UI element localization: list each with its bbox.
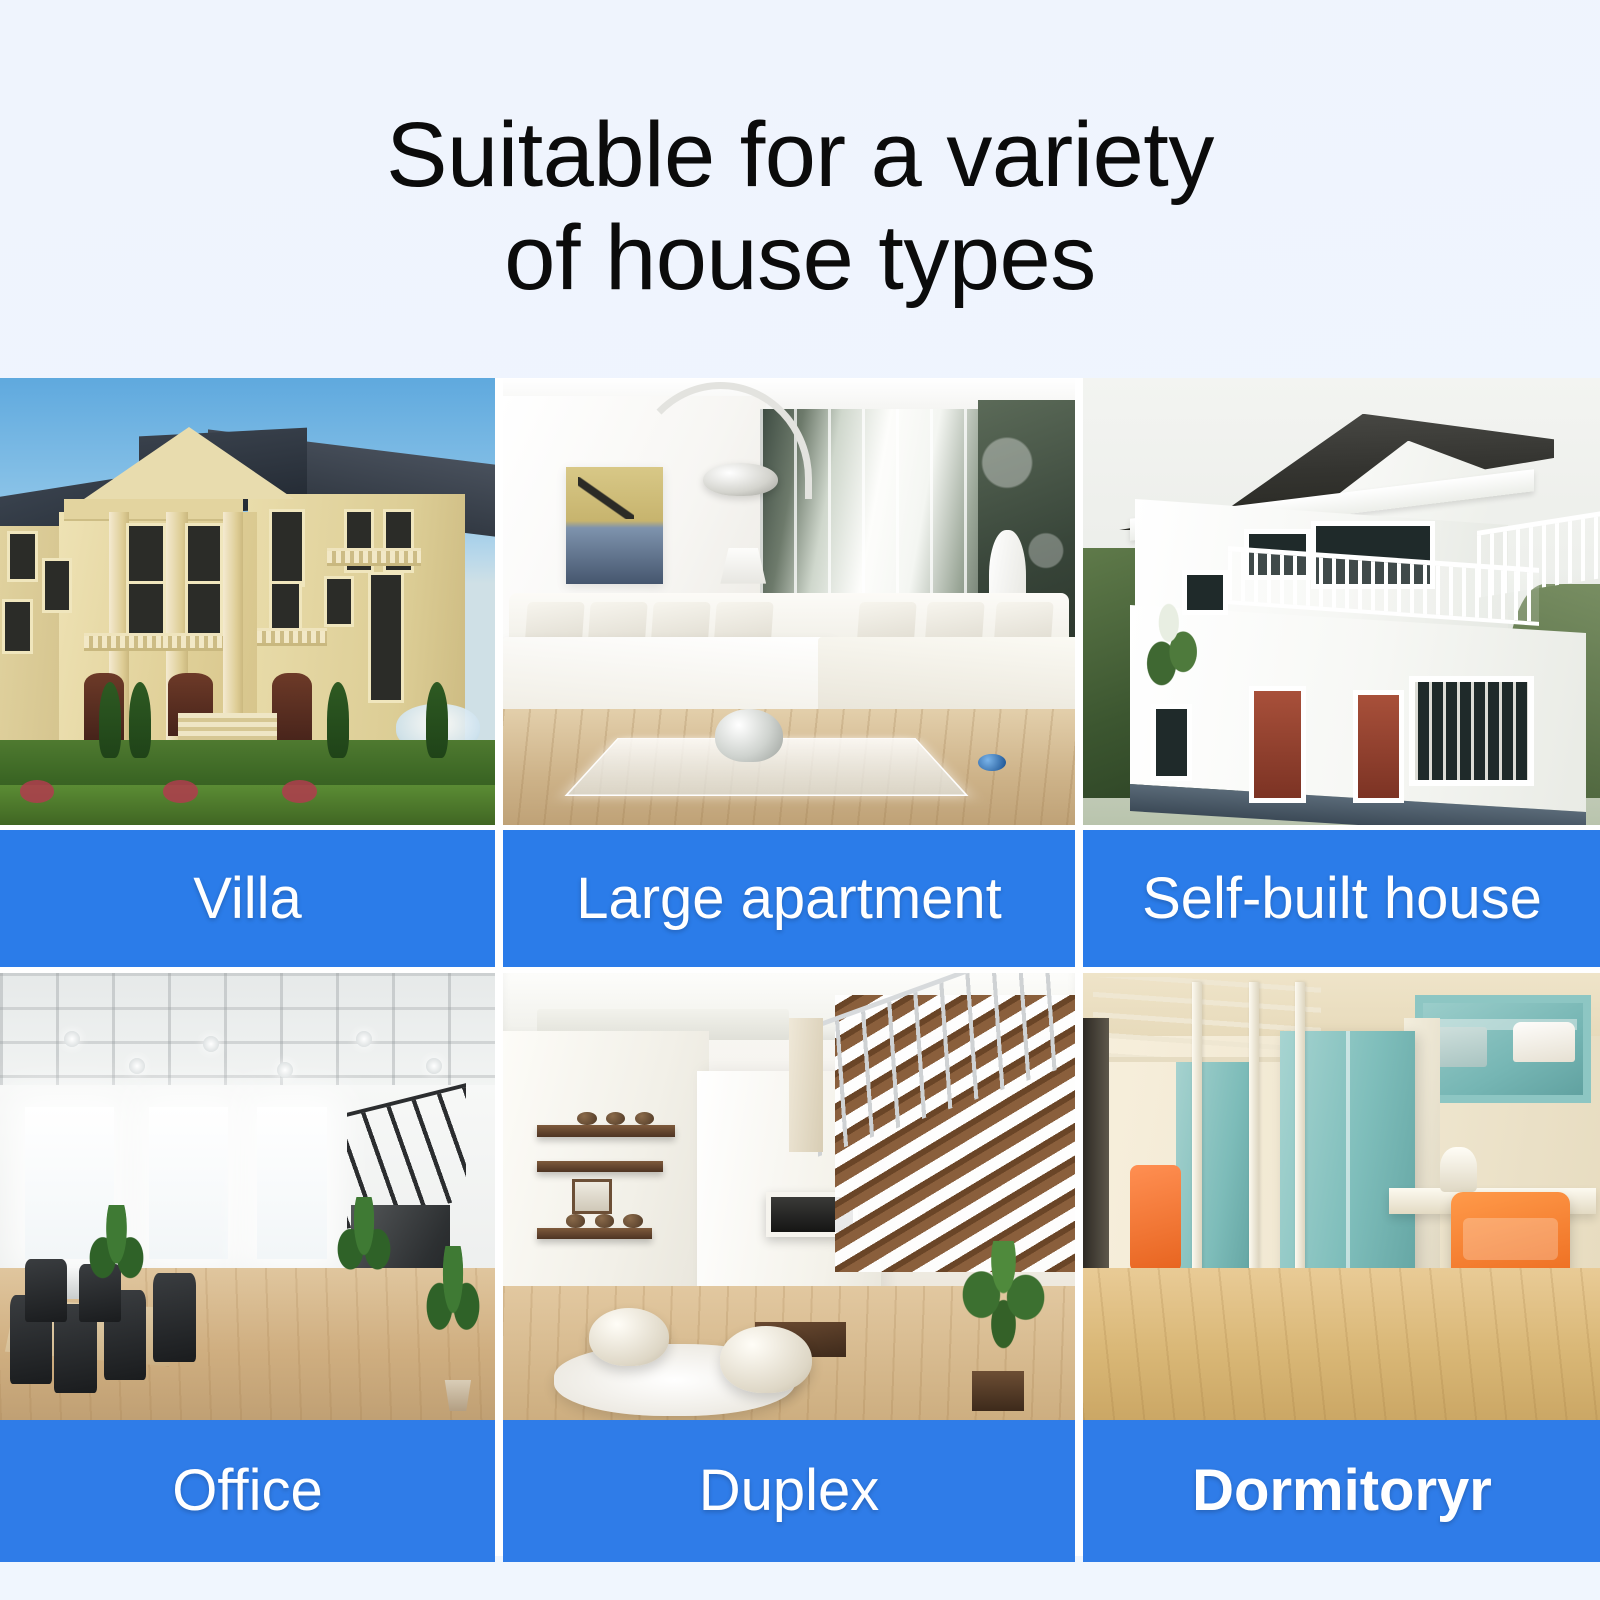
- window-9: [327, 579, 352, 624]
- red-door-1: [1254, 691, 1301, 798]
- glass-sculpture: [715, 709, 784, 763]
- self-built-house-photo: [1083, 378, 1600, 825]
- potted-plant-1: [89, 1205, 143, 1321]
- balcony-railing-2: [163, 633, 222, 651]
- label-band-villa: Villa: [0, 830, 495, 967]
- potted-plant-3: [426, 1246, 480, 1380]
- bunk-post-1: [1192, 982, 1202, 1304]
- pediment-cornice: [64, 499, 242, 519]
- house-type-card-villa[interactable]: Villa: [0, 378, 495, 967]
- label-band-dormitory: Dormitoryr: [1083, 1420, 1600, 1562]
- window-12: [45, 561, 70, 610]
- infographic-page: Suitable for a variety of house types: [0, 0, 1600, 1600]
- column-3: [223, 512, 243, 744]
- garden-lawn: [0, 785, 495, 825]
- structural-column: [789, 1018, 823, 1152]
- potted-plant: [1140, 588, 1213, 704]
- shelf-bowl-1: [577, 1112, 596, 1125]
- window-10: [371, 575, 401, 700]
- flower-bed-3: [282, 780, 317, 802]
- orange-chair-far: [1130, 1165, 1182, 1272]
- office-meeting-room-photo: [0, 973, 495, 1420]
- bunk-post-2: [1249, 982, 1259, 1304]
- house-type-label: Duplex: [699, 1462, 880, 1520]
- ceiling-light-6: [426, 1058, 442, 1074]
- flower-bed-2: [163, 780, 198, 802]
- window-glow-2: [149, 1107, 228, 1259]
- office-chair-5: [25, 1259, 67, 1322]
- floating-shelf-3: [537, 1228, 651, 1240]
- house-type-card-dormitory[interactable]: Dormitoryr: [1083, 973, 1600, 1562]
- villa-exterior-photo: [0, 378, 495, 825]
- window-5: [272, 512, 302, 584]
- house-type-label: Office: [172, 1462, 322, 1520]
- window-13: [5, 602, 30, 651]
- house-type-card-duplex[interactable]: Duplex: [503, 973, 1075, 1562]
- cypress-tree-4: [426, 682, 448, 758]
- shelf-bowl-5: [595, 1214, 614, 1227]
- wood-floor: [1083, 1268, 1600, 1420]
- balcony-railing-4: [327, 548, 421, 566]
- sofa-seat-right: [818, 637, 1075, 713]
- ceiling-light-2: [129, 1058, 145, 1074]
- cypress-tree-2: [129, 682, 151, 758]
- lower-window-1: [1156, 709, 1187, 776]
- dormitory-room-photo: [1083, 973, 1600, 1420]
- pediment-triangle: [84, 427, 294, 499]
- label-band-self-built-house: Self-built house: [1083, 830, 1600, 967]
- shelf-bowl-3: [635, 1112, 654, 1125]
- red-door-2: [1358, 695, 1399, 798]
- label-band-duplex: Duplex: [503, 1420, 1075, 1562]
- house-type-card-office[interactable]: Office: [0, 973, 495, 1562]
- window-11: [10, 534, 35, 579]
- wardrobe-small: [1176, 1062, 1254, 1277]
- cypress-tree-1: [99, 682, 121, 758]
- arc-lamp-shade: [703, 463, 777, 497]
- label-band-large-apartment: Large apartment: [503, 830, 1075, 967]
- house-type-card-large-apartment[interactable]: Large apartment: [503, 378, 1075, 967]
- plant-pot: [972, 1371, 1023, 1411]
- shelf-bowl-6: [623, 1214, 642, 1227]
- cypress-tree-3: [327, 682, 349, 758]
- barred-window: [1415, 682, 1529, 780]
- duplex-interior-photo: [503, 973, 1075, 1420]
- window-glow-3: [257, 1107, 326, 1259]
- house-type-card-self-built-house[interactable]: Self-built house: [1083, 378, 1600, 967]
- pouf-2: [720, 1326, 812, 1393]
- desk-lamp: [1440, 1147, 1476, 1192]
- left-wall: [503, 1031, 709, 1317]
- balcony-railing-1: [84, 633, 163, 651]
- pouf-1: [589, 1308, 669, 1366]
- label-band-office: Office: [0, 1420, 495, 1562]
- house-type-label: Villa: [193, 870, 302, 928]
- ceiling-light-3: [203, 1036, 219, 1052]
- shelf-bowl-4: [566, 1214, 585, 1227]
- house-type-grid: Villa: [0, 378, 1600, 1556]
- storage-box-white: [1513, 1022, 1575, 1062]
- page-title-line-2: of house types: [0, 207, 1600, 310]
- floating-shelf-1: [537, 1125, 674, 1137]
- front-door: [272, 673, 312, 745]
- page-title-line-1: Suitable for a variety: [386, 104, 1214, 206]
- large-apartment-living-room-photo: [503, 378, 1075, 825]
- potted-plant: [961, 1241, 1047, 1375]
- house-type-label: Large apartment: [576, 870, 1002, 928]
- picture-frame: [572, 1179, 612, 1215]
- balcony-railing-3: [257, 628, 326, 646]
- house-type-label: Self-built house: [1142, 870, 1542, 928]
- flower-bed-1: [20, 780, 55, 802]
- office-chair-4: [153, 1273, 195, 1362]
- potted-plant-2: [337, 1197, 391, 1313]
- house-type-label: Dormitoryr: [1192, 1462, 1492, 1520]
- page-title: Suitable for a variety of house types: [0, 104, 1600, 310]
- floating-shelf-2: [537, 1161, 663, 1173]
- bunk-post-3: [1295, 982, 1305, 1304]
